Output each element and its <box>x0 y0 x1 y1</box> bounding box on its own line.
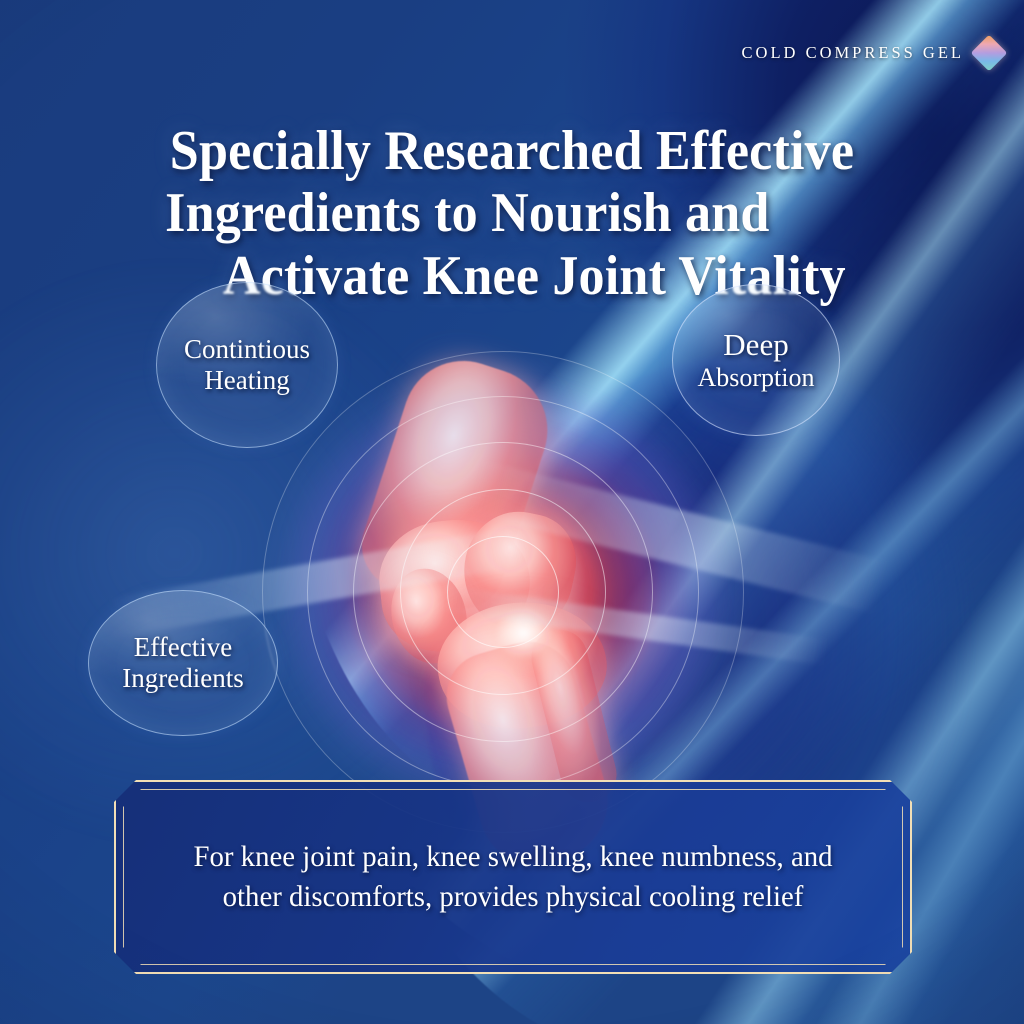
bubble-absorption-line-2: Absorption <box>698 363 815 393</box>
bubble-heating-line-1: Contintious <box>184 334 310 365</box>
title-line-1: Specially Researched Effective <box>88 120 936 183</box>
pulse-ring-5 <box>262 351 744 833</box>
caption-text: For knee joint pain, knee swelling, knee… <box>130 780 896 974</box>
brand-name: COLD COMPRESS GEL <box>742 43 964 63</box>
rainbow-diamond-icon <box>971 35 1008 72</box>
bubble-ingredients-line-2: Ingredients <box>122 663 243 694</box>
knee-joint-illustration <box>288 392 718 792</box>
feature-bubble-effective-ingredients[interactable]: Effective Ingredients <box>88 590 278 736</box>
feature-bubble-continuous-heating[interactable]: Contintious Heating <box>156 282 338 448</box>
feature-bubble-deep-absorption[interactable]: Deep Absorption <box>672 284 840 436</box>
page-title: Specially Researched Effective Ingredien… <box>36 120 988 308</box>
title-line-2: Ingredients to Nourish and <box>43 182 891 245</box>
bubble-absorption-line-1: Deep <box>723 327 788 363</box>
bubble-ingredients-line-1: Effective <box>134 632 232 663</box>
brand-header: COLD COMPRESS GEL <box>742 40 1002 66</box>
poster-canvas: COLD COMPRESS GEL Specially Researched E… <box>0 0 1024 1024</box>
caption-plate: For knee joint pain, knee swelling, knee… <box>114 780 912 974</box>
bubble-heating-line-2: Heating <box>204 365 289 396</box>
